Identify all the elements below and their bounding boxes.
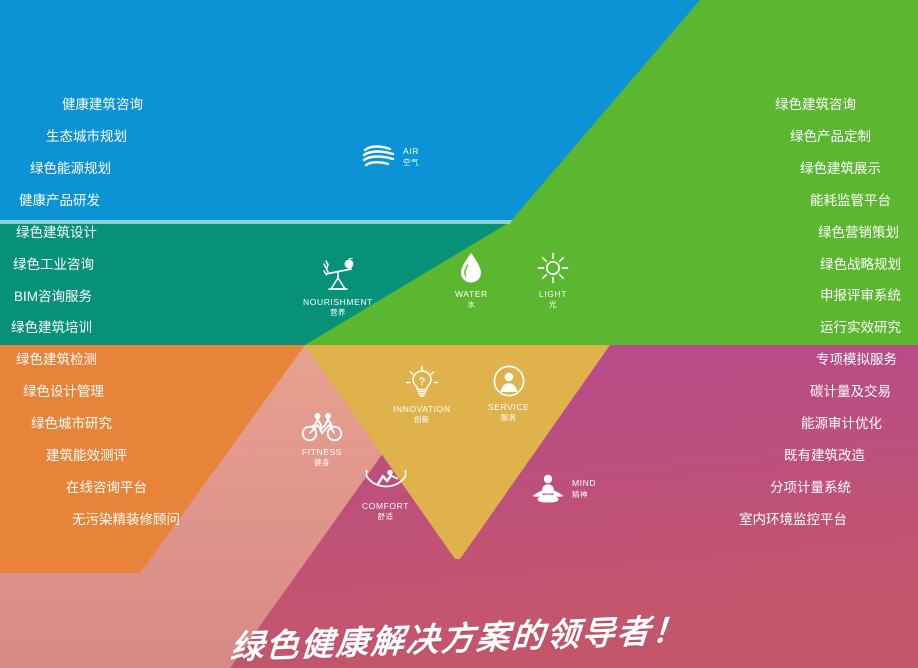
service-item-right-12[interactable]: 分项计量系统: [770, 481, 918, 495]
concept-label-mind: MIND精神: [572, 478, 596, 500]
left-service-list: 健康建筑咨询生态城市规划绿色能源规划健康产品研发绿色建筑设计绿色工业咨询BIM咨…: [0, 0, 300, 668]
service-item-left-11[interactable]: 建筑能效测评: [0, 449, 127, 463]
concept-label-zh-mind: 精神: [572, 490, 596, 500]
svg-text:?: ?: [418, 376, 425, 388]
service-item-left-9[interactable]: 绿色设计管理: [0, 385, 104, 399]
concept-water[interactable]: WATER水: [455, 252, 488, 311]
service-item-right-2[interactable]: 绿色建筑展示: [800, 162, 918, 176]
concept-mind[interactable]: MIND精神: [531, 474, 596, 504]
concept-label-en-comfort: COMFORT: [362, 501, 409, 512]
service-item-right-4[interactable]: 绿色营销策划: [818, 226, 918, 240]
service-item-left-7[interactable]: 绿色建筑培训: [0, 321, 92, 335]
concept-label-fitness: FITNESS健身: [302, 447, 342, 469]
service-item-left-3[interactable]: 健康产品研发: [0, 194, 100, 208]
hammock-icon: [365, 468, 407, 496]
concept-label-en-innovation: INNOVATION: [393, 404, 451, 415]
service-item-right-11[interactable]: 既有建筑改造: [784, 449, 918, 463]
service-item-right-5[interactable]: 绿色战略规划: [820, 258, 918, 272]
water-drop-icon: [459, 252, 483, 284]
service-item-right-6[interactable]: 申报评审系统: [820, 289, 918, 303]
concept-label-zh-innovation: 创新: [393, 415, 451, 425]
service-item-left-4[interactable]: 绿色建筑设计: [0, 226, 97, 240]
concept-label-zh-fitness: 健身: [302, 458, 342, 468]
concept-label-comfort: COMFORT舒适: [362, 501, 409, 523]
concept-label-en-air: AIR: [403, 146, 419, 157]
service-item-left-2[interactable]: 绿色能源规划: [0, 162, 111, 176]
concept-nourishment[interactable]: NOURISHMENT营养: [303, 258, 373, 319]
concept-label-zh-nourishment: 营养: [303, 308, 373, 318]
right-service-list: 绿色建筑咨询绿色产品定制绿色建筑展示能耗监管平台绿色营销策划绿色战略规划申报评审…: [618, 0, 918, 668]
concept-air[interactable]: AIR空气: [362, 144, 419, 170]
concept-label-en-water: WATER: [455, 289, 488, 300]
service-item-left-10[interactable]: 绿色城市研究: [0, 417, 112, 431]
concept-label-en-light: LIGHT: [539, 289, 567, 300]
service-item-right-3[interactable]: 能耗监管平台: [810, 194, 918, 208]
service-item-right-7[interactable]: 运行实效研究: [820, 321, 918, 335]
tandem-bike-icon: [301, 412, 343, 442]
service-item-left-1[interactable]: 生态城市规划: [0, 130, 127, 144]
concept-label-en-nourishment: NOURISHMENT: [303, 297, 373, 308]
concept-label-zh-service: 服务: [488, 413, 529, 423]
service-item-right-13[interactable]: 室内环境监控平台: [739, 513, 918, 527]
concept-light[interactable]: LIGHT光: [537, 252, 569, 311]
meditation-icon: [531, 474, 565, 504]
infographic-canvas: 健康建筑咨询生态城市规划绿色能源规划健康产品研发绿色建筑设计绿色工业咨询BIM咨…: [0, 0, 918, 668]
service-item-right-0[interactable]: 绿色建筑咨询: [775, 98, 918, 112]
person-circle-icon: [493, 365, 525, 397]
lightbulb-idea-icon: ?: [405, 365, 439, 399]
service-item-right-1[interactable]: 绿色产品定制: [790, 130, 918, 144]
concept-service[interactable]: SERVICE服务: [488, 365, 529, 424]
concept-label-light: LIGHT光: [539, 289, 567, 311]
service-item-left-12[interactable]: 在线咨询平台: [0, 481, 147, 495]
concept-label-air: AIR空气: [403, 146, 419, 168]
balance-apple-icon: [318, 258, 358, 292]
concept-label-service: SERVICE服务: [488, 402, 529, 424]
concept-label-zh-water: 水: [455, 300, 488, 310]
service-item-left-13[interactable]: 无污染精装修顾问: [0, 513, 180, 527]
concept-label-innovation: INNOVATION创新: [393, 404, 451, 426]
concept-label-en-fitness: FITNESS: [302, 447, 342, 458]
service-item-left-6[interactable]: BIM咨询服务: [0, 290, 92, 304]
concept-label-zh-light: 光: [539, 300, 567, 310]
concept-label-zh-comfort: 舒适: [362, 512, 409, 522]
service-item-right-9[interactable]: 碳计量及交易: [810, 385, 918, 399]
concept-label-nourishment: NOURISHMENT营养: [303, 297, 373, 319]
concept-label-zh-air: 空气: [403, 158, 419, 168]
sun-icon: [537, 252, 569, 284]
service-item-right-8[interactable]: 专项模拟服务: [816, 353, 918, 367]
service-item-left-0[interactable]: 健康建筑咨询: [0, 98, 143, 112]
service-item-left-8[interactable]: 绿色建筑检测: [0, 353, 97, 367]
concept-label-en-mind: MIND: [572, 478, 596, 489]
concept-comfort[interactable]: COMFORT舒适: [362, 468, 409, 523]
concept-label-water: WATER水: [455, 289, 488, 311]
concept-fitness[interactable]: FITNESS健身: [301, 412, 343, 469]
concept-innovation[interactable]: ? INNOVATION创新: [393, 365, 451, 426]
service-item-left-5[interactable]: 绿色工业咨询: [0, 258, 94, 272]
service-item-right-10[interactable]: 能源审计优化: [801, 417, 918, 431]
air-waves-icon: [362, 144, 396, 170]
concept-label-en-service: SERVICE: [488, 402, 529, 413]
